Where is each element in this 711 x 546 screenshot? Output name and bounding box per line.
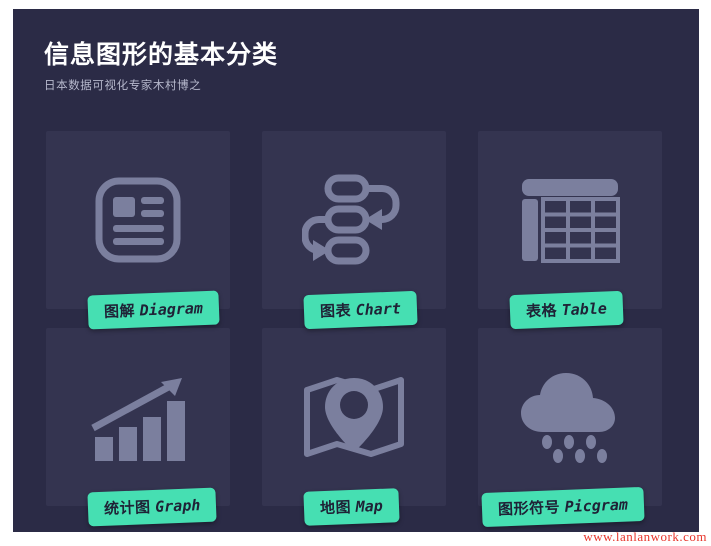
flowchart-icon [262,131,446,309]
page-title: 信息图形的基本分类 [44,41,544,70]
card-label-cn: 地图 [320,499,352,517]
card-label-map: 地图 Map [303,488,399,526]
category-card-picgram[interactable]: 图形符号 Picgram [478,328,662,506]
card-label-en: Map [355,497,383,516]
card-label-table: 表格 Table [509,291,623,329]
card-label-picgram: 图形符号 Picgram [481,487,644,527]
card-label-cn: 图解 [104,303,136,321]
category-card-table[interactable]: 表格 Table [478,131,662,309]
card-label-cn: 图形符号 [498,499,561,518]
diagram-layout-icon [46,131,230,309]
card-label-cn: 图表 [320,302,352,320]
bar-chart-arrow-icon [46,328,230,506]
category-card-chart[interactable]: 图表 Chart [262,131,446,309]
card-label-en: Picgram [564,496,628,516]
card-label-diagram: 图解 Diagram [87,290,219,329]
card-label-en: Chart [355,299,401,319]
category-card-map[interactable]: 地图 Map [262,328,446,506]
map-pin-icon [262,328,446,506]
category-card-graph[interactable]: 统计图 Graph [46,328,230,506]
card-label-graph: 统计图 Graph [87,488,217,527]
rain-cloud-icon [478,328,662,506]
card-label-en: Table [561,299,607,319]
category-grid: 图解 Diagram 图表 Chart [46,131,666,526]
watermark: www.lanlanwork.com [583,529,707,545]
table-grid-icon [478,131,662,309]
card-label-cn: 表格 [526,302,558,320]
slide-header: 信息图形的基本分类 日本数据可视化专家木村博之 [44,41,544,93]
page-subtitle: 日本数据可视化专家木村博之 [44,77,544,93]
card-label-chart: 图表 Chart [303,291,417,329]
card-label-en: Graph [155,496,201,516]
slide-canvas: 信息图形的基本分类 日本数据可视化专家木村博之 图解 Diagram [13,9,699,532]
card-label-cn: 统计图 [104,499,151,518]
category-card-diagram[interactable]: 图解 Diagram [46,131,230,309]
card-label-en: Diagram [139,299,203,319]
